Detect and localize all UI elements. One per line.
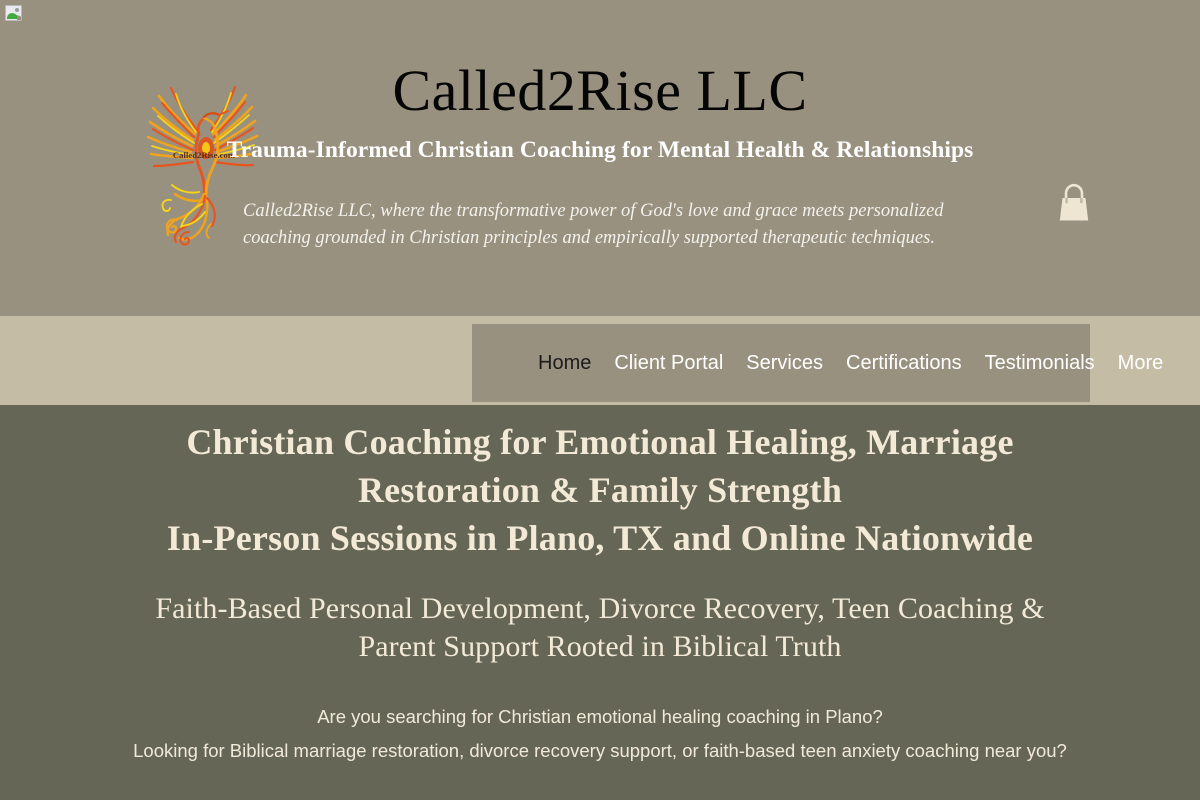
broken-image-tear xyxy=(17,15,22,21)
hero-body-line-1: Are you searching for Christian emotiona… xyxy=(100,700,1100,734)
site-title: Called2Rise LLC xyxy=(280,61,920,122)
nav-item-home[interactable]: Home xyxy=(538,353,591,373)
nav-item-certifications[interactable]: Certifications xyxy=(846,353,962,373)
main-navigation: Home Client Portal Services Certificatio… xyxy=(472,324,1090,402)
hero-section: Christian Coaching for Emotional Healing… xyxy=(0,405,1200,800)
page-root: Called2Rise.com Called2Rise LLC Trauma-I… xyxy=(0,0,1200,800)
hero-heading-line-2: In-Person Sessions in Plano, TX and Onli… xyxy=(167,518,1033,558)
hero-heading-line-1: Christian Coaching for Emotional Healing… xyxy=(186,422,1013,510)
hero-subheading: Faith-Based Personal Development, Divorc… xyxy=(120,590,1080,666)
nav-item-services[interactable]: Services xyxy=(746,353,823,373)
site-header: Called2Rise.com Called2Rise LLC Trauma-I… xyxy=(0,0,1200,316)
nav-item-client-portal[interactable]: Client Portal xyxy=(614,353,723,373)
shopping-bag-icon[interactable] xyxy=(1053,182,1095,226)
site-tagline: Called2Rise LLC, where the transformativ… xyxy=(243,198,957,252)
broken-image-icon xyxy=(5,5,22,21)
nav-item-more[interactable]: More xyxy=(1118,353,1164,373)
nav-item-testimonials[interactable]: Testimonials xyxy=(985,353,1095,373)
hero-heading: Christian Coaching for Emotional Healing… xyxy=(100,418,1100,562)
hero-body-line-2: Looking for Biblical marriage restoratio… xyxy=(100,734,1100,768)
hero-body: Are you searching for Christian emotiona… xyxy=(100,700,1100,768)
site-subtitle: Trauma-Informed Christian Coaching for M… xyxy=(200,137,1000,164)
